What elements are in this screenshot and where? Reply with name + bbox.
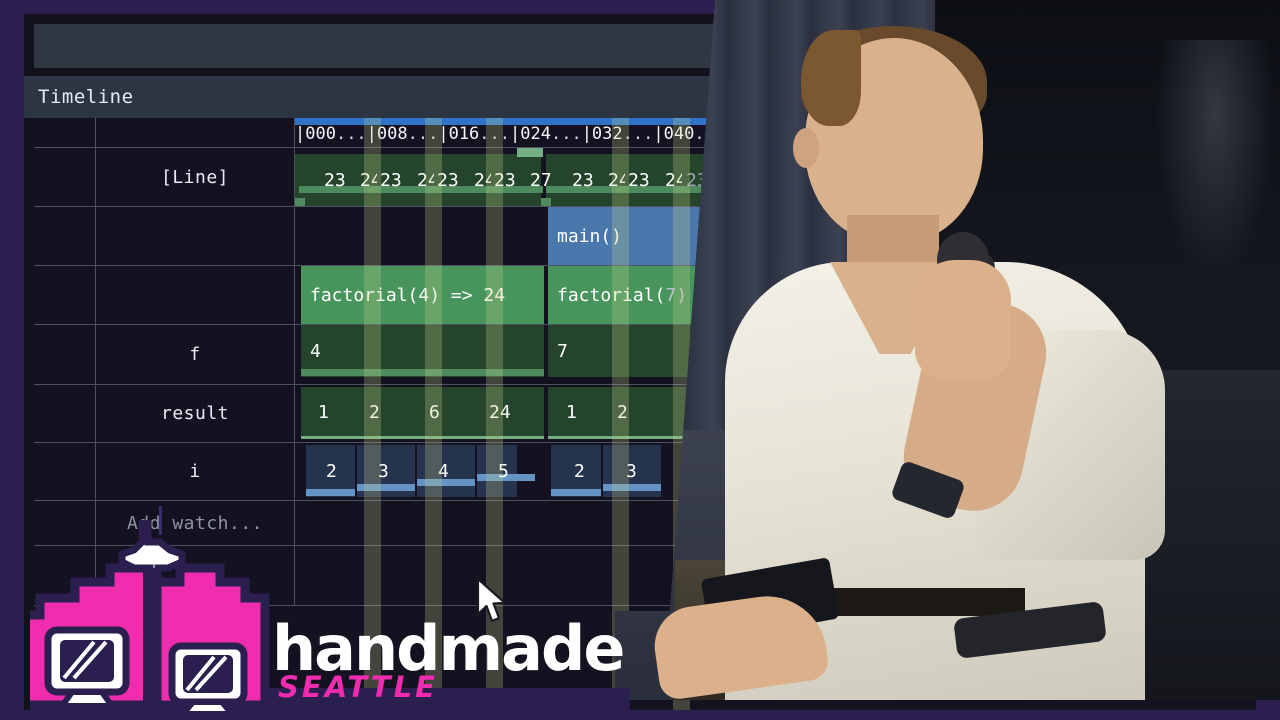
tick-016: |016... bbox=[438, 124, 510, 144]
i-gutter bbox=[34, 443, 96, 500]
result-value: 2 bbox=[608, 387, 658, 437]
ruler-gutter bbox=[34, 118, 96, 147]
tick-000: |000... bbox=[295, 124, 367, 144]
factorial-active-label: factorial( bbox=[557, 285, 665, 306]
main-call-label: main() bbox=[557, 226, 622, 247]
crt-monitor-left-icon bbox=[48, 630, 126, 706]
result-value: 1 bbox=[557, 387, 607, 437]
i-value: 3 bbox=[369, 445, 409, 497]
i-row-label: i bbox=[189, 461, 200, 482]
tick-032: |032... bbox=[582, 124, 654, 144]
logo-subword: SEATTLE bbox=[278, 670, 438, 704]
f-label-cell[interactable]: f bbox=[96, 325, 295, 384]
factorial-complete-bar[interactable]: factorial(4) => 24 bbox=[301, 266, 544, 324]
i-value: 5 bbox=[489, 445, 529, 497]
result-value: 1 bbox=[309, 387, 359, 437]
i-label-cell[interactable]: i bbox=[96, 443, 295, 500]
speaker-hand bbox=[915, 260, 1011, 380]
result-value: 6 bbox=[420, 387, 470, 437]
speaker-hair-front bbox=[801, 30, 861, 126]
line-value: 27 bbox=[521, 154, 557, 206]
factorial-active-arg: 7) bbox=[665, 285, 687, 306]
speaker-ear bbox=[793, 128, 819, 168]
i-value: 3 bbox=[617, 445, 657, 497]
timeline-title: Timeline bbox=[38, 86, 134, 108]
f-value: 4 bbox=[310, 341, 321, 362]
line-value: 23 bbox=[485, 154, 521, 206]
crt-monitor-right-icon bbox=[172, 646, 244, 714]
f-value: 7 bbox=[557, 341, 568, 362]
screen-root: Timeline |000...|008...|016...|024...|03… bbox=[0, 0, 1280, 720]
mouse-cursor-icon bbox=[476, 578, 510, 624]
result-value: 2 bbox=[360, 387, 410, 437]
result-gutter bbox=[34, 385, 96, 442]
main-gutter bbox=[34, 207, 96, 265]
result-value: 24 bbox=[480, 387, 540, 437]
i-value: 2 bbox=[317, 445, 357, 497]
i-value: 4 bbox=[429, 445, 469, 497]
line-value: 23 bbox=[371, 154, 407, 206]
line-value: 23 bbox=[315, 154, 351, 206]
line-value: 23 bbox=[619, 154, 655, 206]
line-value: 23 bbox=[563, 154, 599, 206]
video-scene bbox=[615, 0, 1280, 700]
i-value: 2 bbox=[565, 445, 605, 497]
factorial-gutter bbox=[34, 266, 96, 324]
line-value: 23 bbox=[428, 154, 464, 206]
result-row-label: result bbox=[161, 403, 229, 424]
line-marker-start bbox=[295, 198, 305, 206]
f-row-label: f bbox=[189, 344, 200, 365]
stage-light bbox=[1155, 40, 1275, 280]
f-gutter bbox=[34, 325, 96, 384]
line-label-cell[interactable]: [Line] bbox=[96, 148, 295, 206]
line-gutter bbox=[34, 148, 96, 206]
factorial-label-cell[interactable] bbox=[96, 266, 295, 324]
line-row-label: [Line] bbox=[161, 167, 229, 188]
factorial-complete-label: factorial(4) => 24 bbox=[310, 285, 505, 306]
main-label-cell[interactable] bbox=[96, 207, 295, 265]
speaker-video-overlay[interactable] bbox=[615, 0, 1280, 700]
ruler-label-cell bbox=[96, 118, 295, 147]
tick-024: |024... bbox=[510, 124, 582, 144]
f-underline-left bbox=[301, 369, 544, 376]
result-label-cell[interactable]: result bbox=[96, 385, 295, 442]
tick-008: |008... bbox=[367, 124, 439, 144]
